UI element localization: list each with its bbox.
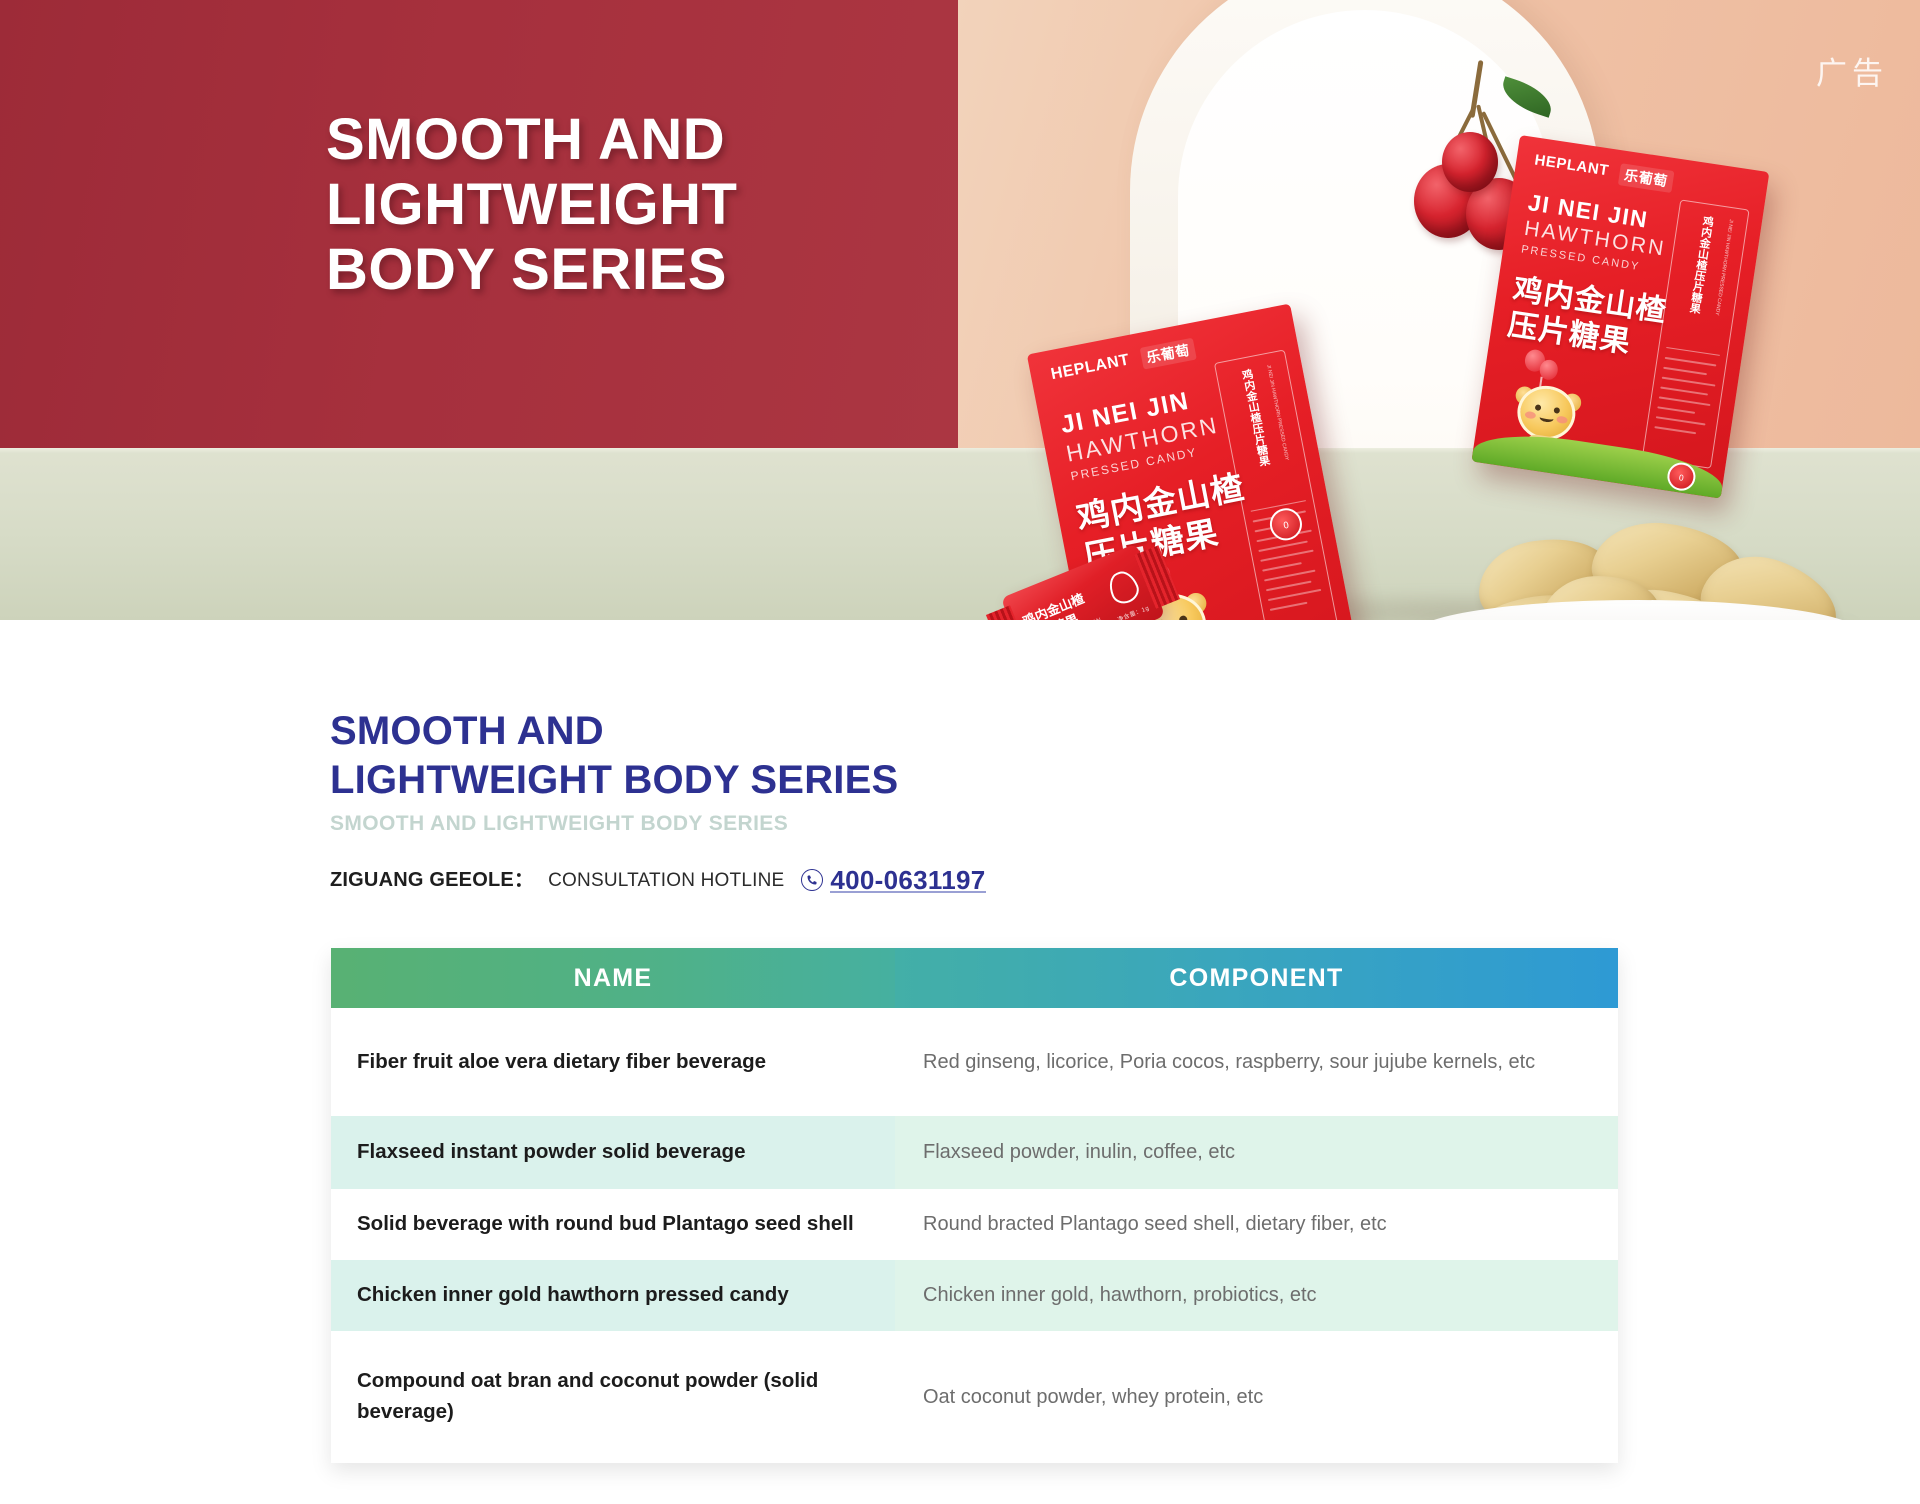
section-heading-line-1: SMOOTH AND — [330, 707, 1150, 756]
cell-component: Oat coconut powder, whey protein, etc — [895, 1331, 1618, 1463]
hero-title-line-3: BODY SERIES — [326, 238, 886, 303]
cell-name: Compound oat bran and coconut powder (so… — [331, 1331, 895, 1463]
cell-component: Round bracted Plantago seed shell, dieta… — [895, 1189, 1618, 1260]
hero-title-line-1: SMOOTH AND — [326, 108, 886, 173]
table-row[interactable]: Flaxseed instant powder solid beverage F… — [331, 1116, 1618, 1189]
column-header-component: COMPONENT — [895, 948, 1618, 1008]
product-brand-logo-cn-front: 乐葡萄 — [1140, 338, 1197, 370]
hotline-number[interactable]: 400-0631197 — [830, 867, 985, 893]
section-heading: SMOOTH AND LIGHTWEIGHT BODY SERIES — [330, 707, 1150, 805]
cell-name: Solid beverage with round bud Plantago s… — [331, 1189, 895, 1260]
product-brand-logo-cn: 乐葡萄 — [1618, 163, 1674, 193]
cell-component: Flaxseed powder, inulin, coffee, etc — [895, 1116, 1618, 1189]
cell-component: Chicken inner gold, hawthorn, probiotics… — [895, 1260, 1618, 1331]
hero-title-line-2: LIGHTWEIGHT — [326, 173, 886, 238]
cell-name: Fiber fruit aloe vera dietary fiber beve… — [331, 1008, 895, 1116]
cell-component: Red ginseng, licorice, Poria cocos, rasp… — [895, 1008, 1618, 1116]
sachet-mark-back — [1105, 567, 1143, 607]
column-header-name-label: NAME — [574, 964, 653, 993]
sachet-weight-back: 净含量：1g — [1116, 603, 1151, 620]
table-row[interactable]: Solid beverage with round bud Plantago s… — [331, 1189, 1618, 1260]
cell-name: Flaxseed instant powder solid beverage — [331, 1116, 895, 1189]
advertisement-page: 广告 SMOOTH AND LIGHTWEIGHT BODY SERIES HE… — [0, 0, 1920, 1504]
table-row[interactable]: Compound oat bran and coconut powder (so… — [331, 1331, 1618, 1463]
product-brand-logo: HEPLANT — [1533, 152, 1610, 180]
table-body: Fiber fruit aloe vera dietary fiber beve… — [331, 1008, 1618, 1463]
company-brand-label: ZIGUANG GEEOLE： — [330, 863, 534, 892]
table-row[interactable]: Fiber fruit aloe vera dietary fiber beve… — [331, 1008, 1618, 1116]
hotline-label: CONSULTATION HOTLINE — [548, 870, 784, 892]
table-row[interactable]: Chicken inner gold hawthorn pressed cand… — [331, 1260, 1618, 1331]
hero-title: SMOOTH AND LIGHTWEIGHT BODY SERIES — [326, 108, 886, 303]
mid-section: SMOOTH AND LIGHTWEIGHT BODY SERIES SMOOT… — [0, 620, 1920, 930]
column-header-name: NAME — [331, 948, 895, 1008]
table-header-row: NAME COMPONENT — [331, 948, 1618, 1008]
phone-icon — [801, 869, 823, 891]
cell-name: Chicken inner gold hawthorn pressed cand… — [331, 1260, 895, 1331]
hotline-link[interactable]: 400-0631197 — [801, 867, 985, 893]
section-subheading: SMOOTH AND LIGHTWEIGHT BODY SERIES — [330, 812, 788, 836]
specification-table: NAME COMPONENT Fiber fruit aloe vera die… — [331, 948, 1618, 1463]
product-box-back: HEPLANT 乐葡萄 JI NEI JIN HAWTHORN PRESSED … — [1471, 135, 1769, 499]
column-header-component-label: COMPONENT — [1169, 964, 1343, 993]
product-brand-logo-front: HEPLANT — [1049, 351, 1131, 384]
section-heading-line-2: LIGHTWEIGHT BODY SERIES — [330, 756, 1150, 805]
table-head: NAME COMPONENT — [331, 948, 1618, 1008]
contact-row: ZIGUANG GEEOLE： CONSULTATION HOTLINE 400… — [330, 863, 986, 893]
ad-watermark: 广告 — [1816, 48, 1888, 93]
